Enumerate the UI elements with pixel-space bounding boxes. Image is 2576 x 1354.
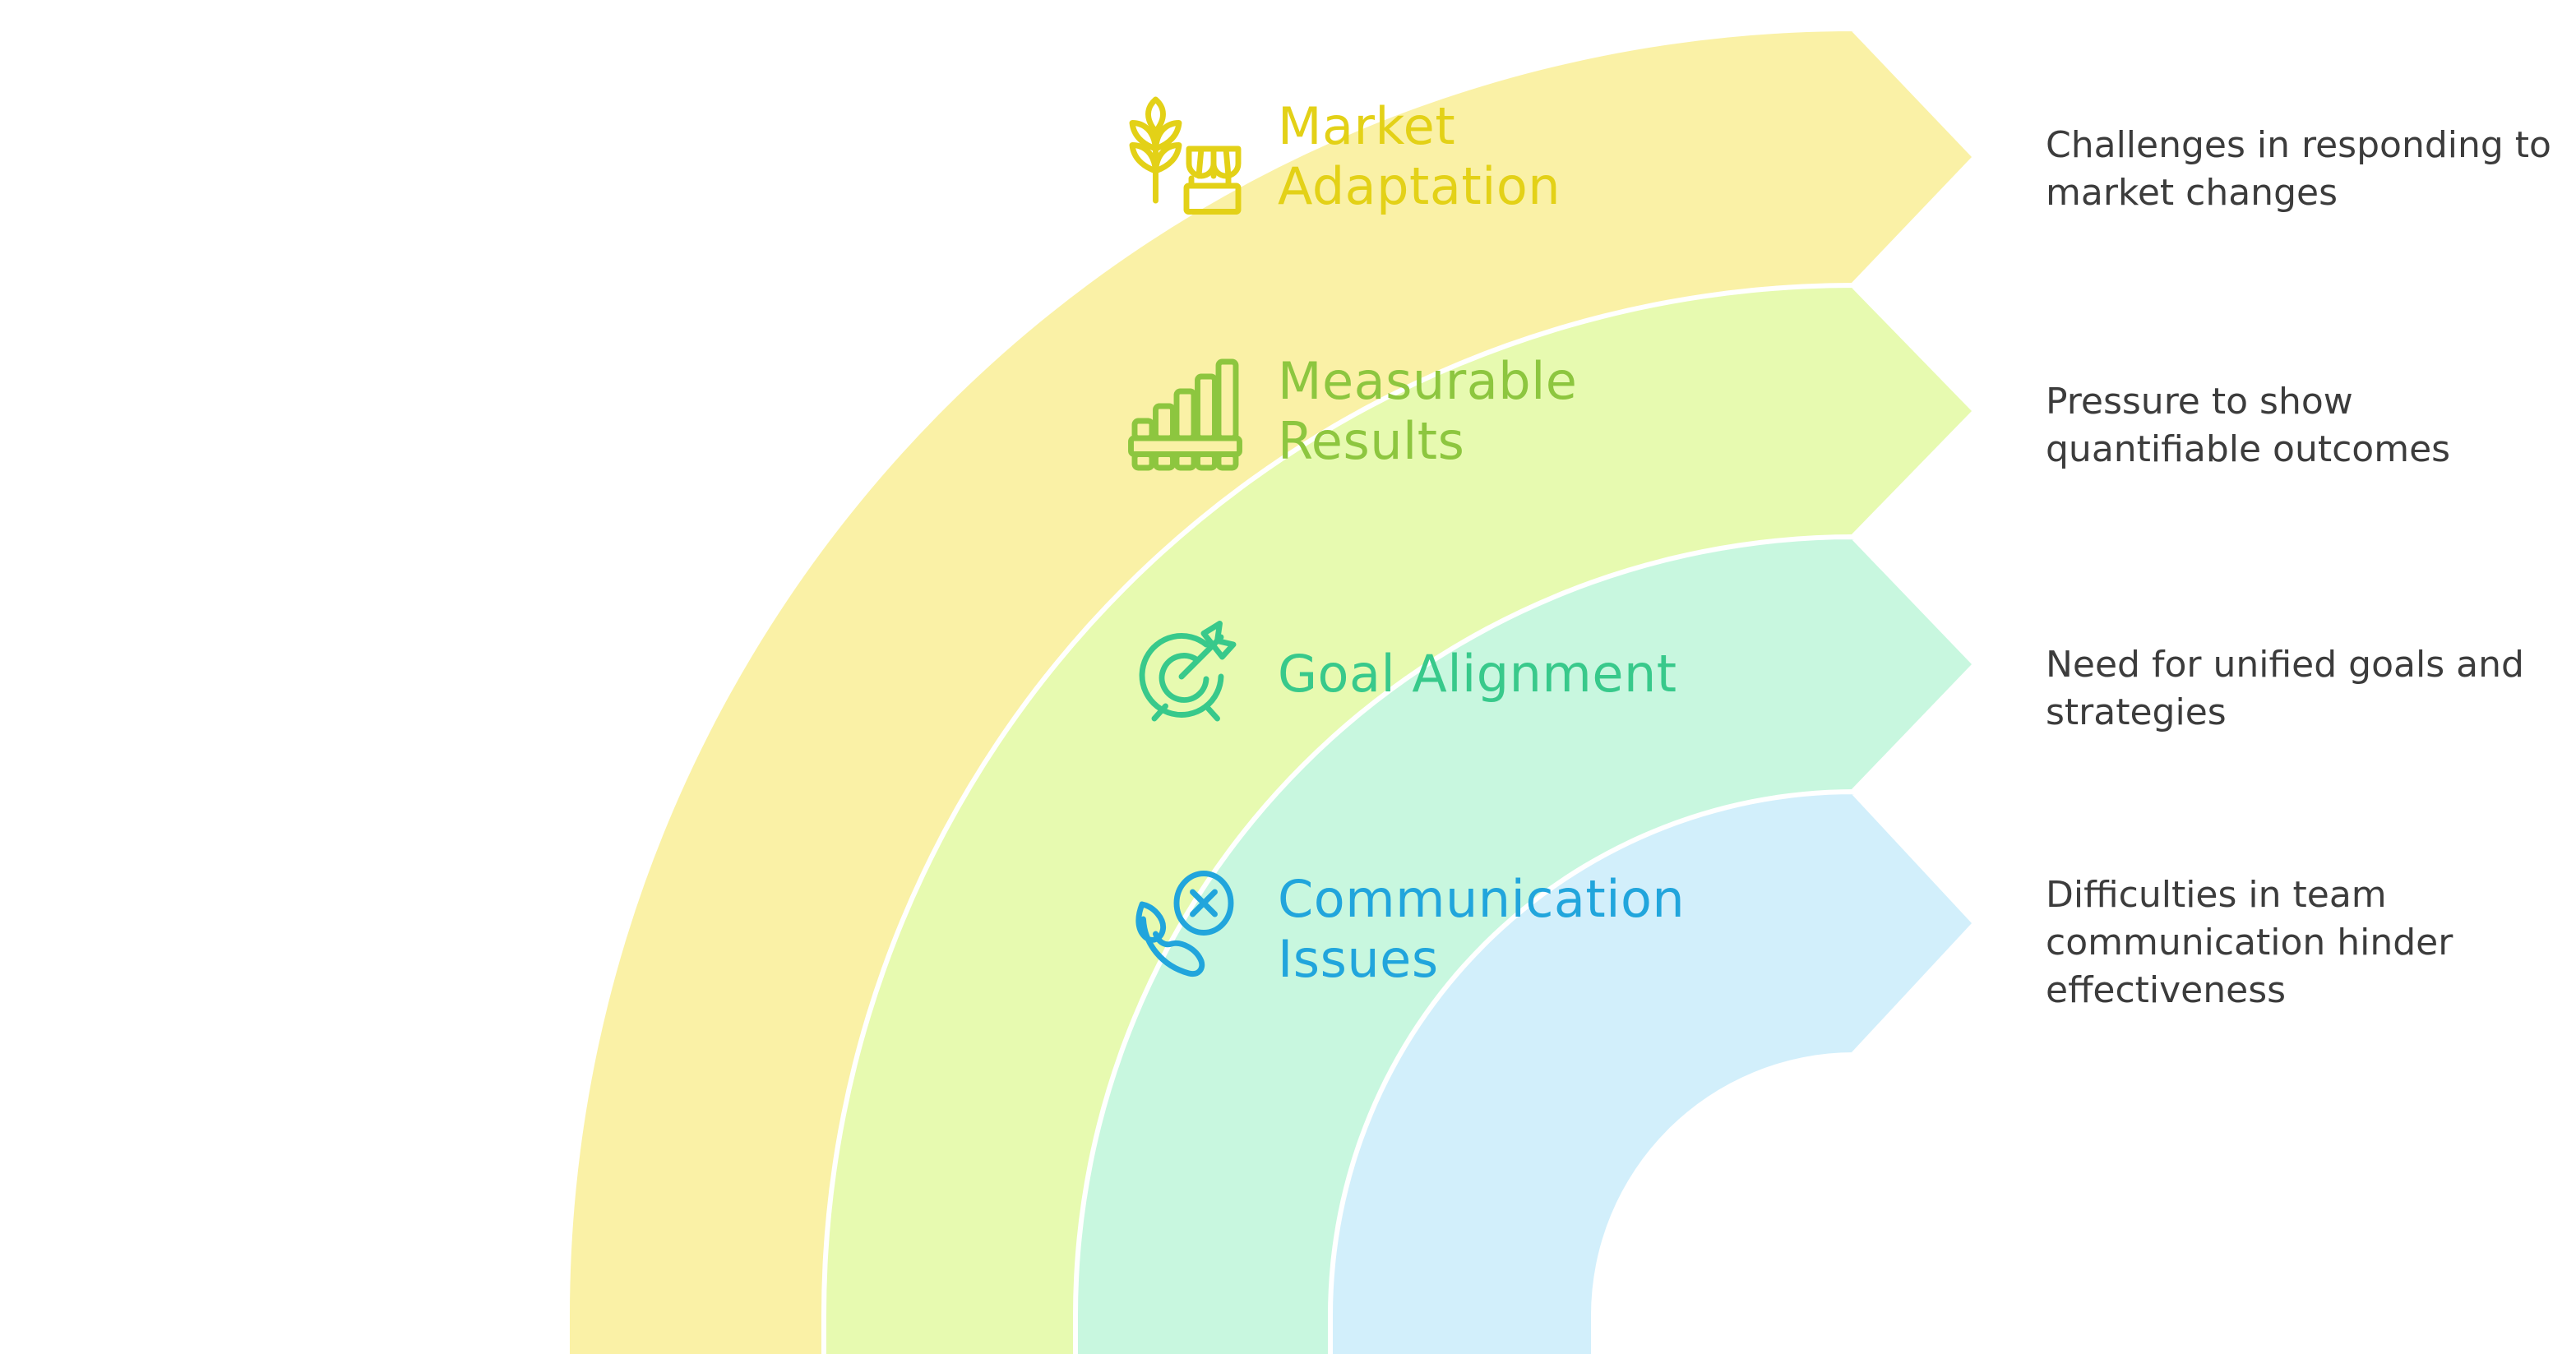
band-description-communication-issues: Difficulties in team communication hinde…: [2046, 871, 2576, 1014]
band-description-market-adaptation: Challenges in responding to market chang…: [2046, 122, 2576, 217]
band-description-goal-alignment: Need for unified goals and strategies: [2046, 641, 2576, 737]
infographic-canvas: Market Adaptation Measu: [0, 0, 2576, 1354]
band-description-measurable-results: Pressure to show quantifiable outcomes: [2046, 378, 2576, 474]
